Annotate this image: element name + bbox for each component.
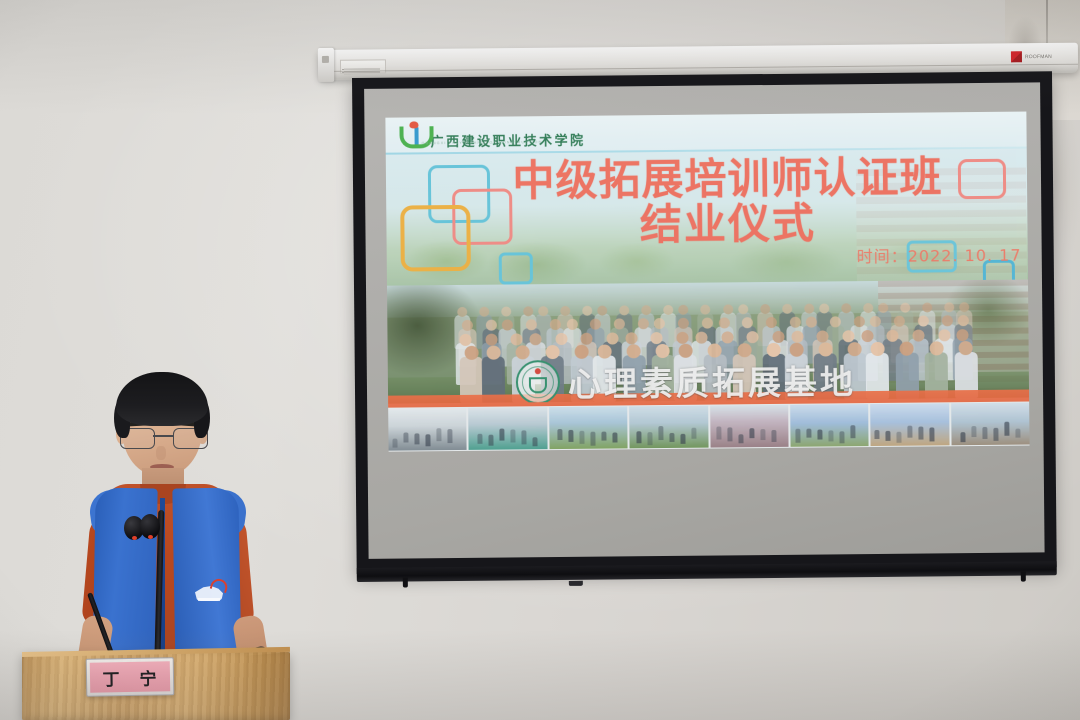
filmstrip-photo (870, 403, 949, 446)
filmstrip-figure (601, 432, 606, 441)
filmstrip-figure (993, 428, 998, 441)
filmstrip-figure (511, 429, 516, 442)
filmstrip-figure (850, 425, 855, 438)
filmstrip-figure (727, 427, 732, 441)
filmstrip-photo-image (388, 408, 467, 451)
filmstrip-photo-image (951, 403, 1030, 446)
slide-group-photo: 心理素质拓展基地 (387, 280, 1029, 404)
filmstrip-figure (681, 434, 686, 444)
filmstrip-photo-image (790, 404, 869, 447)
meeting-room-photo: ROOFMAN (0, 0, 1080, 720)
filmstrip-figure (897, 432, 902, 443)
filmstrip-photo (710, 405, 789, 448)
filmstrip-figure (403, 432, 408, 442)
filmstrip-figure (557, 429, 562, 440)
speaker-person (60, 372, 290, 672)
filmstrip-photo-image (549, 406, 628, 449)
filmstrip-photo-image (629, 406, 708, 449)
filmstrip-figure (749, 428, 754, 438)
filmstrip-figure (658, 426, 663, 440)
group-photo-overlay: 心理素质拓展基地 (516, 355, 856, 403)
filmstrip-figure (1015, 429, 1020, 438)
microphone-indicator-led (132, 536, 137, 540)
microphone-indicator-led (148, 535, 153, 539)
brand-mark-icon (1011, 51, 1022, 62)
filmstrip-figure (875, 430, 880, 439)
filmstrip-figure (908, 426, 913, 438)
filmstrip-figure (522, 430, 527, 444)
filmstrip-figure (590, 432, 595, 446)
slide-date-label: 时间：2022. 10. 17 (857, 242, 1022, 268)
filmstrip-figure (828, 430, 833, 441)
filmstrip-figure (648, 432, 653, 445)
filmstrip-figure (670, 433, 675, 442)
filmstrip-figure (478, 434, 483, 444)
screen-bottom-hook (403, 577, 408, 587)
filmstrip-figure (971, 426, 976, 437)
filmstrip-figure (447, 429, 452, 443)
roller-mount-slot (322, 56, 329, 63)
filmstrip-figure (771, 430, 776, 442)
filmstrip-figure (930, 427, 935, 441)
projected-slide: 广西建设职业技术学院 GUANGXI POLYTECHNIC OF CONSTR… (385, 112, 1029, 452)
slide-photo-filmstrip (388, 402, 1029, 452)
filmstrip-figure (489, 435, 494, 446)
filmstrip-photo (790, 404, 869, 447)
roller-brand-logo: ROOFMAN (1011, 51, 1052, 62)
filmstrip-figure (795, 429, 800, 443)
screen-bottom-hook (1021, 572, 1026, 582)
group-photo-person-head (900, 342, 914, 356)
filmstrip-figure (839, 431, 844, 443)
filmstrip-figure (392, 439, 397, 448)
filmstrip-photo (951, 403, 1030, 446)
filmstrip-figure (806, 429, 811, 438)
filmstrip-figure (982, 427, 987, 439)
filmstrip-figure (817, 430, 822, 440)
floor-shadow (0, 630, 1080, 720)
filmstrip-figure (760, 429, 765, 440)
group-photo-person-head (486, 346, 500, 360)
filmstrip-figure (738, 434, 743, 443)
roller-end-cap (318, 48, 334, 82)
filmstrip-figure (579, 431, 584, 444)
slide-title-line1: 中级拓展培训师认证班 (512, 152, 942, 205)
screen-bottom-bracket (569, 581, 583, 586)
filmstrip-figure (919, 427, 924, 440)
roller-seam (334, 64, 1078, 72)
filmstrip-figure (637, 431, 642, 443)
filmstrip-figure (886, 431, 891, 441)
slide-title-block: 中级拓展培训师认证班 结业仪式 (386, 154, 1028, 251)
group-photo-person-head (870, 342, 884, 356)
filmstrip-photo-image (710, 405, 789, 448)
nose (156, 446, 166, 460)
training-base-seal-icon (516, 360, 560, 404)
projection-screen-frame[interactable]: 广西建设职业技术学院 GUANGXI POLYTECHNIC OF CONSTR… (352, 71, 1057, 574)
hair (116, 372, 208, 426)
filmstrip-figure (500, 429, 505, 441)
brand-name-label: ROOFMAN (1025, 53, 1052, 59)
filmstrip-figure (960, 432, 965, 442)
filmstrip-figure (691, 428, 696, 439)
projection-screen-surface: 广西建设职业技术学院 GUANGXI POLYTECHNIC OF CONSTR… (364, 82, 1044, 558)
group-photo-person-head (464, 346, 478, 360)
filmstrip-photo-image (469, 407, 548, 450)
group-photo-person-head (929, 341, 943, 355)
filmstrip-photo (549, 406, 628, 449)
filmstrip-figure (1004, 422, 1009, 436)
filmstrip-figure (716, 426, 721, 439)
filmstrip-figure (568, 430, 573, 442)
filmstrip-photo-image (870, 403, 949, 446)
filmstrip-photo (629, 406, 708, 449)
vest-emblem-icon (192, 578, 226, 604)
filmstrip-figure (425, 434, 430, 446)
filmstrip-photo (469, 407, 548, 450)
filmstrip-photo (388, 408, 467, 451)
filmstrip-figure (533, 437, 538, 446)
filmstrip-figure (436, 428, 441, 441)
filmstrip-figure (612, 432, 617, 442)
filmstrip-figure (414, 433, 419, 444)
training-base-title: 心理素质拓展基地 (568, 355, 856, 403)
deco-square-small-cyan (499, 252, 533, 284)
group-photo-person-head (959, 341, 973, 355)
